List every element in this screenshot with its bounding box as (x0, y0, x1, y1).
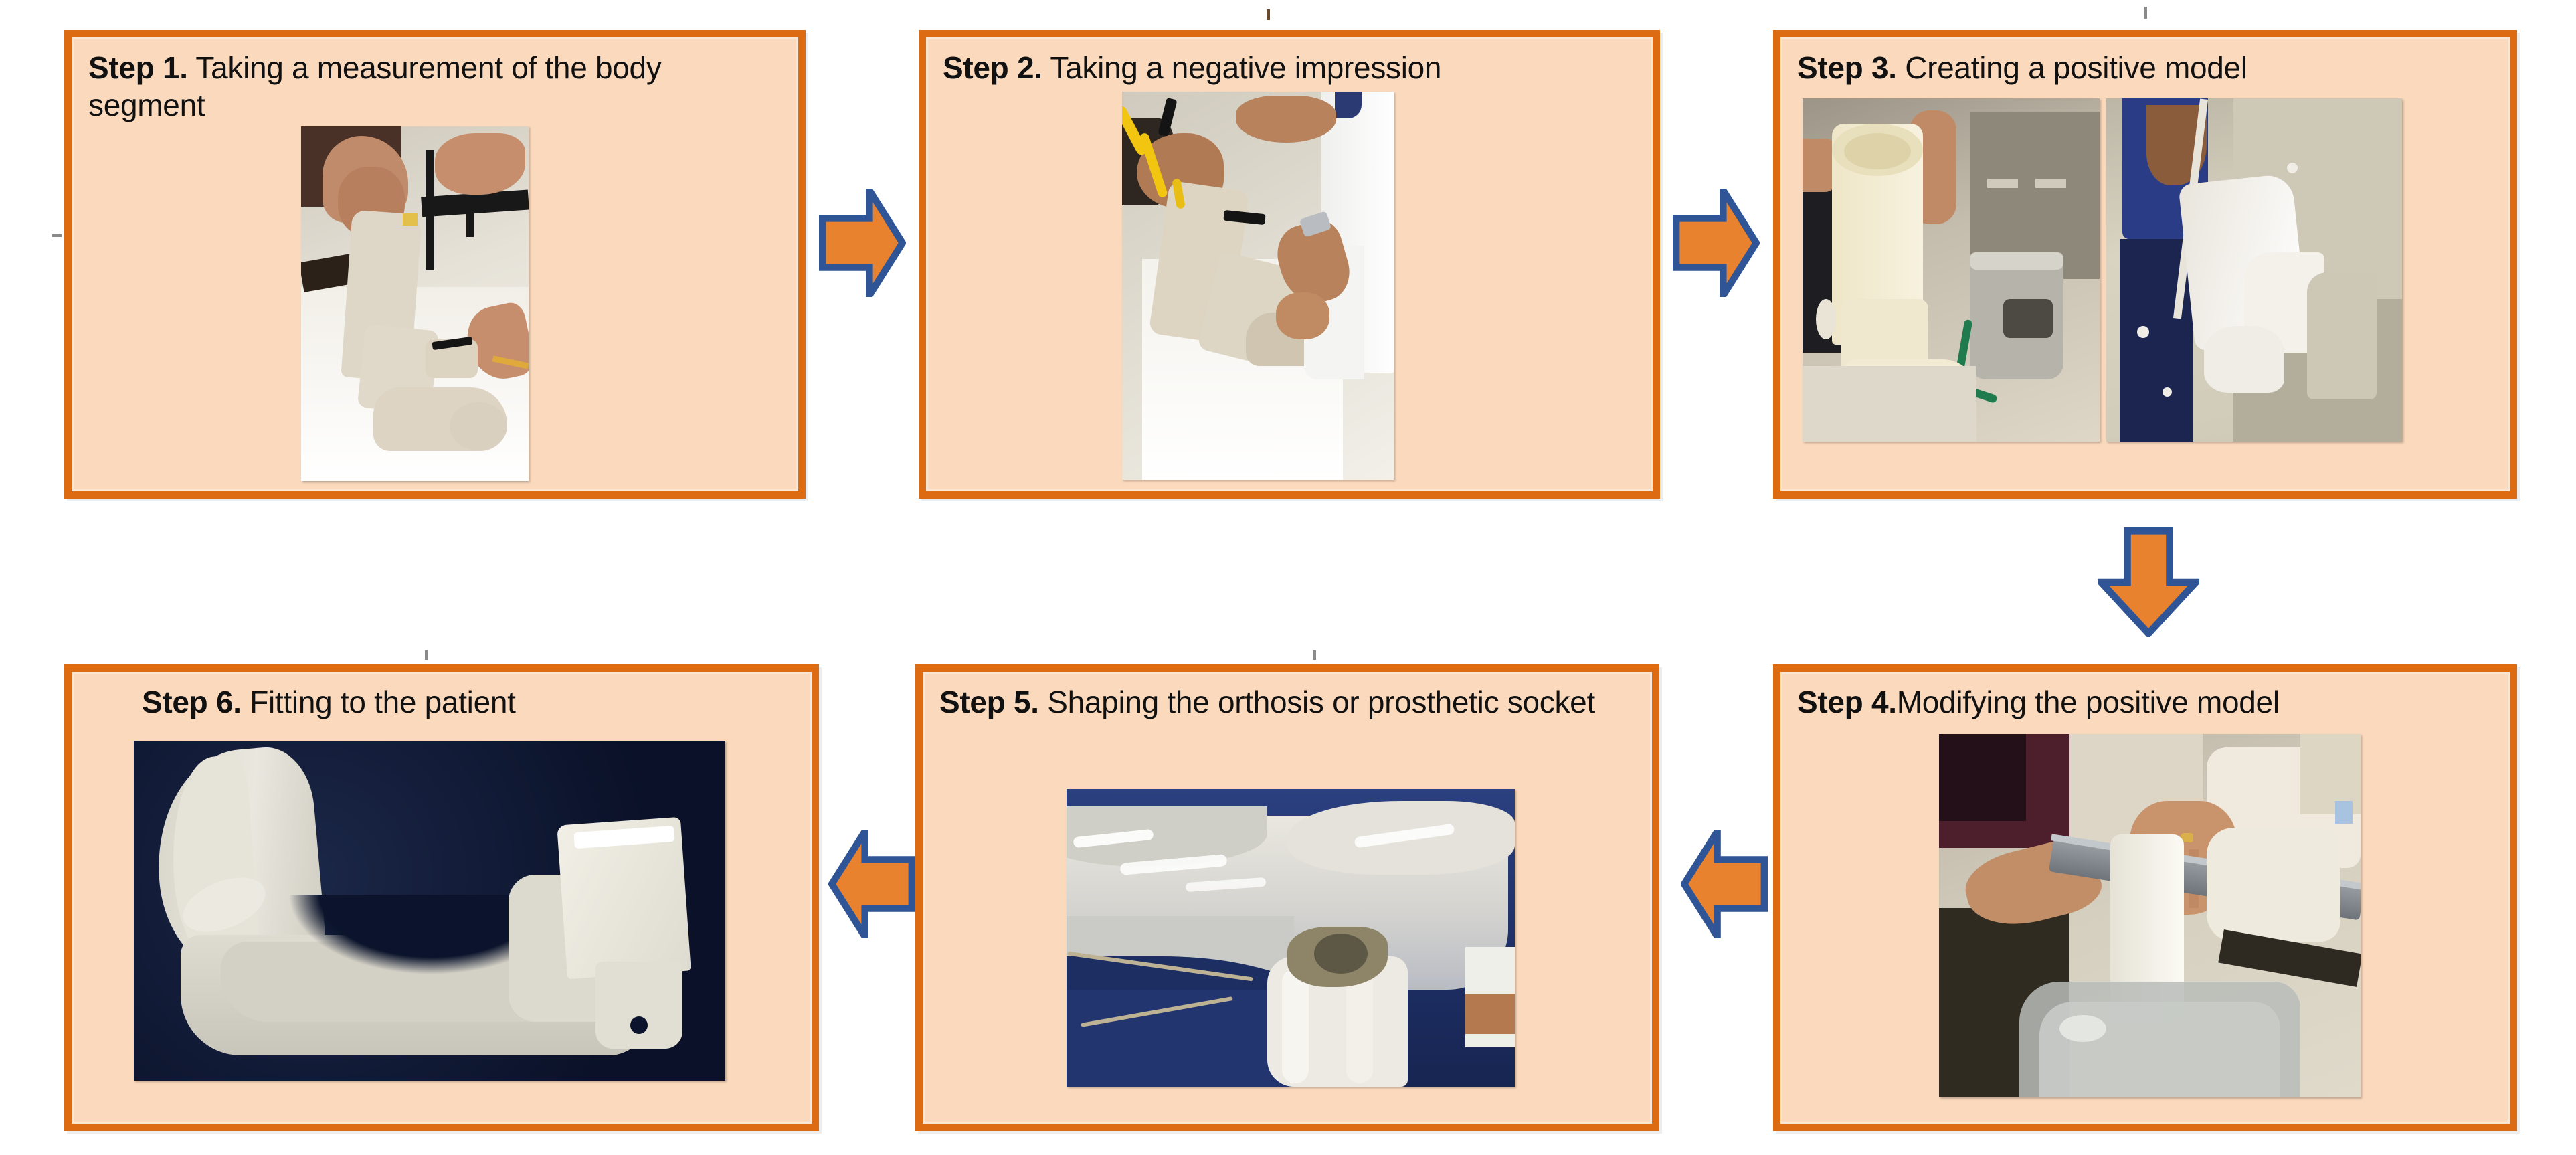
step-card-3-inner: Step 3. Creating a positive model (1780, 37, 2510, 491)
step-5-title: Step 5. Shaping the orthosis or prosthet… (939, 683, 1635, 721)
step-card-4-inner: Step 4.Modifying the positive model (1780, 672, 2510, 1124)
step-card-6[interactable]: Step 6. Fitting to the patient (64, 664, 819, 1131)
arrow-step2-to-step3 (1673, 189, 1760, 297)
step-1-photo (301, 126, 529, 481)
step-2-photos (1122, 92, 1394, 480)
step-card-4[interactable]: Step 4.Modifying the positive model (1773, 664, 2517, 1131)
arrow-step1-to-step2 (819, 189, 906, 297)
step-6-text: Fitting to the patient (242, 685, 516, 719)
step-card-2[interactable]: Step 2. Taking a negative impression (919, 30, 1660, 499)
arrow-step4-to-step5 (1681, 830, 1768, 938)
step-5-text: Shaping the orthosis or prosthetic socke… (1039, 685, 1595, 719)
step-6-title: Step 6. Fitting to the patient (88, 683, 795, 721)
step-3-label: Step 3. (1797, 50, 1897, 85)
step-card-2-inner: Step 2. Taking a negative impression (926, 37, 1653, 491)
scan-tick-mark (2144, 7, 2147, 19)
step-2-text: Taking a negative impression (1042, 50, 1441, 85)
step-card-6-inner: Step 6. Fitting to the patient (72, 672, 812, 1124)
step-1-photos (301, 126, 529, 481)
step-4-text: Modifying the positive model (1897, 685, 2280, 719)
step-3-text: Creating a positive model (1897, 50, 2247, 85)
step-2-title: Step 2. Taking a negative impression (943, 49, 1636, 86)
step-4-photo (1939, 734, 2361, 1097)
step-card-1[interactable]: Step 1. Taking a measurement of the body… (64, 30, 806, 499)
step-6-photos (134, 741, 725, 1081)
arrow-step5-to-step6 (828, 830, 915, 938)
step-5-photo (1067, 789, 1515, 1087)
step-4-photos (1939, 734, 2361, 1097)
step-3-title: Step 3. Creating a positive model (1797, 49, 2493, 86)
step-3-photos (1803, 98, 2402, 442)
process-flow-diagram: Step 1. Taking a measurement of the body… (0, 0, 2576, 1155)
step-1-title: Step 1. Taking a measurement of the body… (88, 49, 781, 124)
step-5-photos (1067, 789, 1515, 1087)
step-1-label: Step 1. (88, 50, 188, 85)
step-6-label: Step 6. (142, 685, 242, 719)
step-4-label: Step 4. (1797, 685, 1897, 719)
scan-tick-mark (1267, 9, 1270, 20)
scan-tick-mark (1313, 650, 1316, 660)
step-card-1-inner: Step 1. Taking a measurement of the body… (72, 37, 798, 491)
step-6-photo (134, 741, 725, 1081)
step-4-title: Step 4.Modifying the positive model (1797, 683, 2493, 721)
step-card-5-inner: Step 5. Shaping the orthosis or prosthet… (923, 672, 1652, 1124)
scan-tick-mark (425, 650, 428, 660)
step-card-3[interactable]: Step 3. Creating a positive model (1773, 30, 2517, 499)
arrow-step3-to-step4 (2098, 527, 2199, 637)
scan-tick-mark (52, 234, 62, 237)
step-3-photo-right (2106, 98, 2402, 442)
step-3-photo-left (1803, 98, 2100, 442)
step-card-5[interactable]: Step 5. Shaping the orthosis or prosthet… (915, 664, 1659, 1131)
step-2-photo (1122, 92, 1394, 480)
step-2-label: Step 2. (943, 50, 1042, 85)
step-5-label: Step 5. (939, 685, 1039, 719)
